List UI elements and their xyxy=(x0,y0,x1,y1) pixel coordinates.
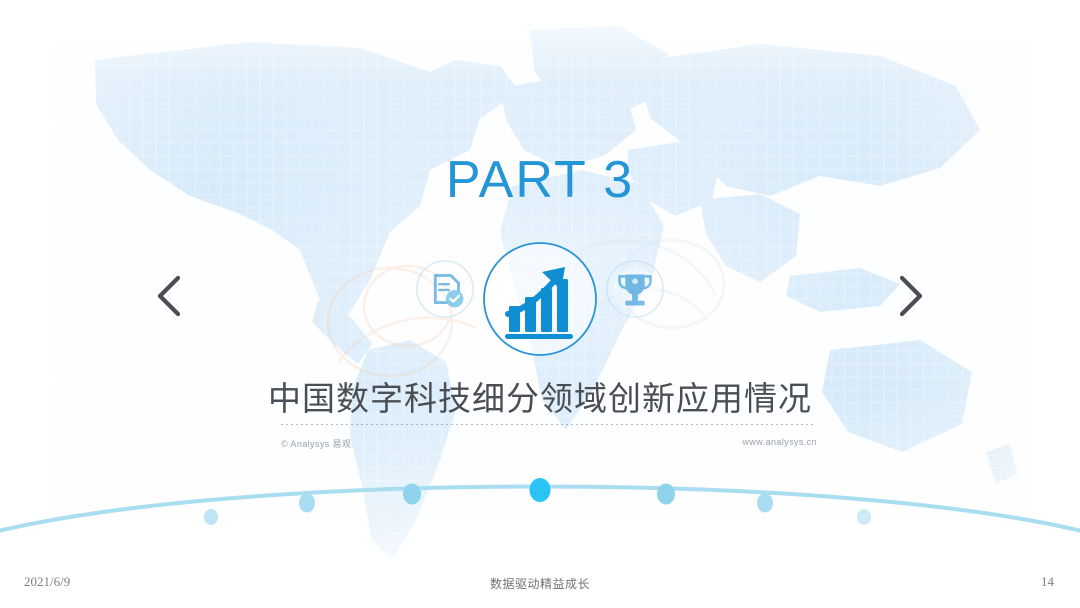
next-arrow-icon[interactable] xyxy=(886,270,934,322)
carousel-dot-1[interactable] xyxy=(204,509,218,525)
trophy-icon xyxy=(604,258,666,320)
carousel-dot-2[interactable] xyxy=(299,494,315,513)
carousel-dot-6[interactable] xyxy=(757,494,773,513)
icon-cluster xyxy=(410,236,670,366)
page-title: PART 3 xyxy=(0,150,1080,210)
dotted-divider xyxy=(281,424,815,425)
carousel-dot-4-active[interactable] xyxy=(530,478,551,502)
prev-arrow-icon[interactable] xyxy=(146,270,194,322)
carousel-dot-7[interactable] xyxy=(857,509,871,525)
page-number: 14 xyxy=(1041,574,1054,590)
carousel-dot-5[interactable] xyxy=(657,484,675,505)
carousel-arc xyxy=(0,455,1080,545)
carousel-dot-3[interactable] xyxy=(403,484,421,505)
bar-chart-growth-icon xyxy=(477,236,603,362)
footer-tagline: 数据驱动精益成长 xyxy=(0,575,1080,592)
copyright-text: © Analysys 易观 xyxy=(281,437,351,450)
carousel-dots[interactable] xyxy=(204,478,871,525)
website-url[interactable]: www.analysys.cn xyxy=(742,437,817,447)
presentation-slide: PART 3 xyxy=(0,0,1080,608)
document-check-icon xyxy=(414,258,476,320)
slide-footer: 2021/6/9 数据驱动精益成长 14 xyxy=(0,564,1080,608)
section-headline: 中国数字科技细分领域创新应用情况 xyxy=(0,372,1080,420)
